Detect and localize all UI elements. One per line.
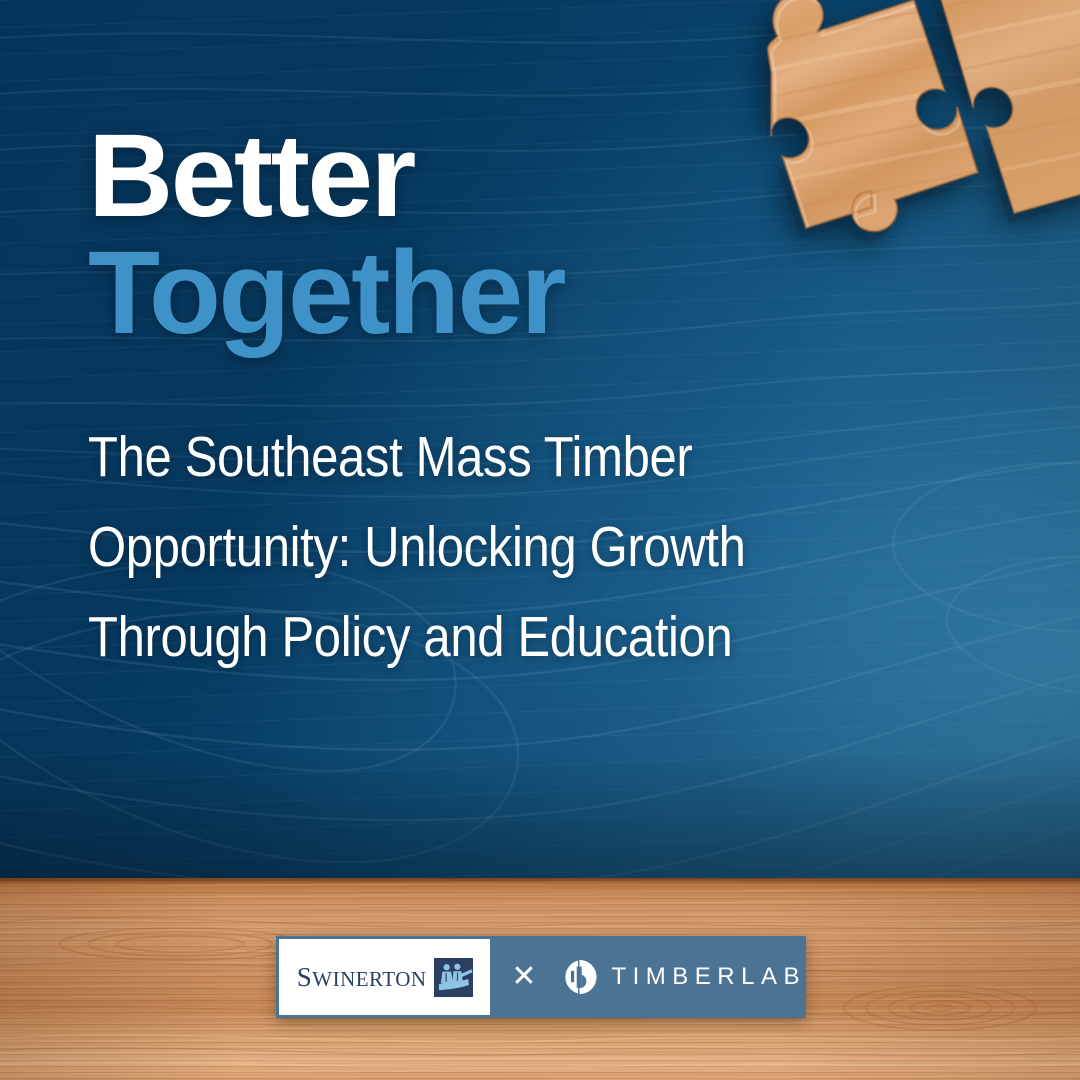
logo-lockup-bar: SWINERTON <box>276 936 806 1018</box>
headline: Better Together <box>88 118 848 352</box>
headline-line-together: Together <box>88 235 848 352</box>
subtitle-line-2: Opportunity: Unlocking Growth <box>88 502 707 592</box>
swinerton-wordmark-rest: WINERTON <box>312 967 426 991</box>
subtitle-line-1: The Southeast Mass Timber <box>88 412 707 502</box>
timberlab-logo-panel[interactable]: ✕ TIMBERLAB <box>493 936 806 1018</box>
subtitle: The Southeast Mass Timber Opportunity: U… <box>88 412 707 682</box>
headline-line-better: Better <box>88 118 848 235</box>
timberlab-lockup: TIMBERLAB <box>560 958 806 996</box>
timberlab-wordmark: TIMBERLAB <box>611 965 806 989</box>
collab-x-icon: ✕ <box>511 962 536 992</box>
poster-canvas: Better Together The Southeast Mass Timbe… <box>0 0 1080 1080</box>
subtitle-line-3: Through Policy and Education <box>88 592 707 682</box>
timberlab-mark-icon <box>560 958 598 996</box>
swinerton-wordmark-cap: S <box>297 962 313 992</box>
swinerton-figures-icon <box>434 958 473 997</box>
swinerton-logo-panel[interactable]: SWINERTON <box>276 936 493 1018</box>
swinerton-wordmark: SWINERTON <box>297 964 427 991</box>
